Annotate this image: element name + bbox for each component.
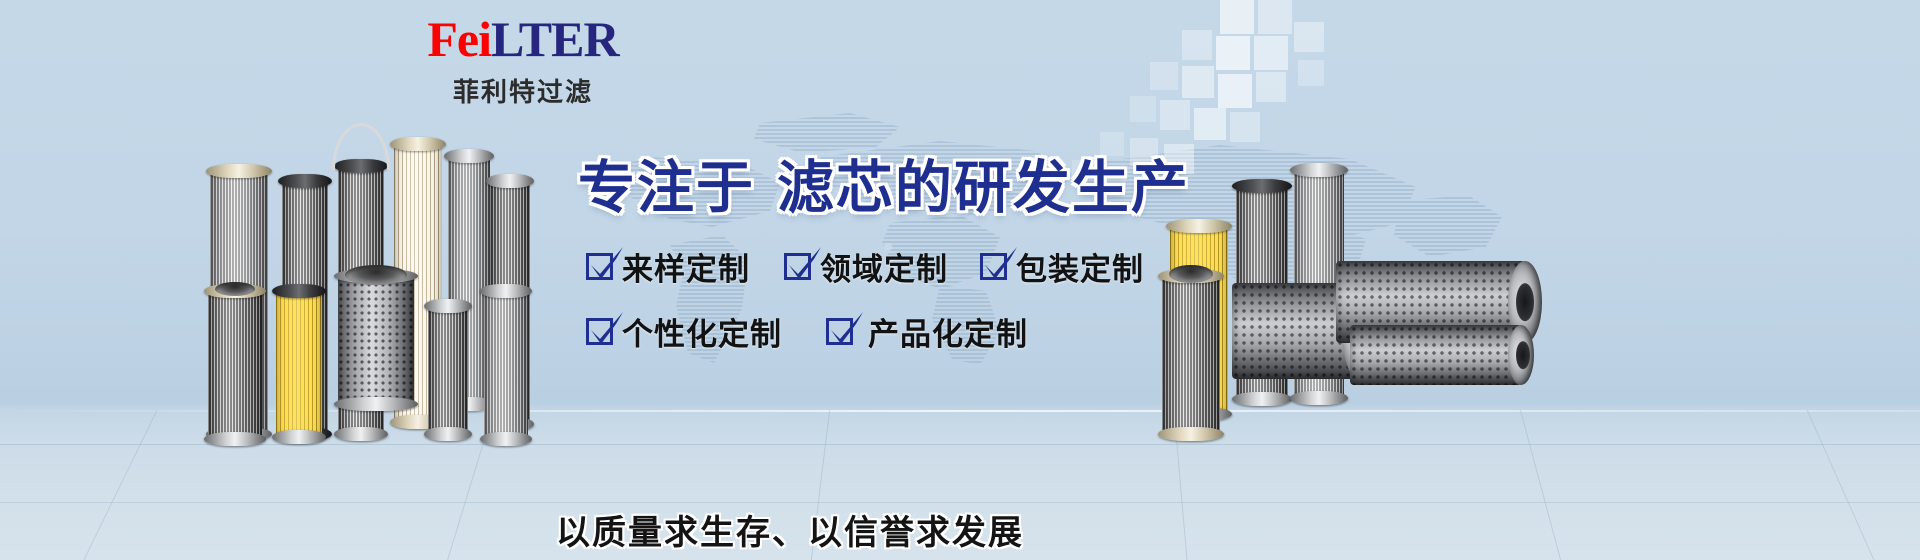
feature-item-1: 领域定制: [784, 244, 948, 289]
tagline-text: 以质量求生存、以信誉求发展: [556, 505, 1024, 554]
feature-label: 领域定制: [820, 244, 948, 289]
promotional-banner: FeiLTER 菲利特过滤 专注于 滤芯的研发生产 来样定制 领域定制: [0, 0, 1920, 560]
feature-item-0: 来样定制: [586, 244, 750, 289]
feature-label: 个性化定制: [622, 309, 782, 354]
filter-cartridge-horizontal: [1350, 325, 1522, 385]
feature-item-3: 个性化定制: [586, 309, 782, 354]
feature-label: 来样定制: [622, 244, 750, 289]
filter-cartridge: [276, 290, 322, 438]
feature-label: 包装定制: [1016, 244, 1144, 289]
feature-row-1: 来样定制 领域定制 包装定制: [586, 244, 1206, 289]
feature-row-2: 个性化定制 产品化定制: [586, 309, 1206, 354]
filter-cartridge: [484, 290, 528, 440]
checkbox-checked-icon: [586, 253, 613, 280]
filter-cartridge: [428, 305, 468, 435]
logo-word-part2: LTER: [491, 11, 619, 67]
checkbox-checked-icon: [784, 253, 811, 280]
logo-chinese-name: 菲利特过滤: [393, 72, 653, 109]
left-product-group: [190, 125, 560, 525]
feature-label: 产品化定制: [868, 309, 1028, 354]
checkbox-checked-icon: [826, 318, 853, 345]
feature-item-4: 产品化定制: [826, 309, 1028, 354]
company-logo: FeiLTER 菲利特过滤: [393, 12, 653, 109]
feature-item-2: 包装定制: [980, 244, 1144, 289]
headline-text: 专注于 滤芯的研发生产: [578, 142, 1190, 224]
checkbox-checked-icon: [980, 253, 1007, 280]
filter-cartridge: [208, 290, 262, 440]
checkbox-checked-icon: [586, 318, 613, 345]
logo-wordmark: FeiLTER: [393, 12, 653, 66]
logo-word-part1: Fei: [427, 11, 491, 67]
filter-cartridge: [338, 275, 414, 405]
feature-list: 来样定制 领域定制 包装定制 个性化定制: [586, 244, 1206, 354]
